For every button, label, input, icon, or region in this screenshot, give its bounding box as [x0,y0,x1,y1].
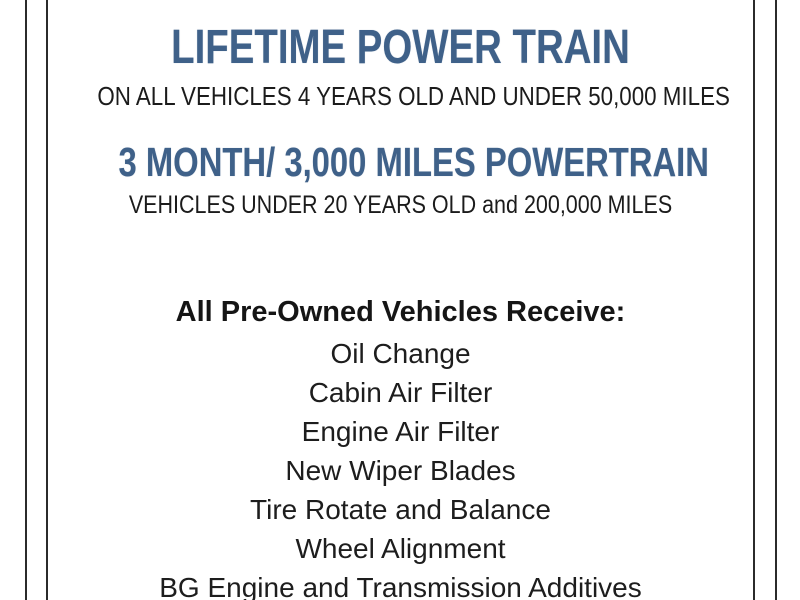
warranty-block-lifetime: LIFETIME POWER TRAIN ON ALL VEHICLES 4 Y… [48,24,753,109]
lifetime-warranty-subline: ON ALL VEHICLES 4 YEARS OLD AND UNDER 50… [97,83,703,109]
list-item: Cabin Air Filter [48,379,753,407]
flyer-page: LIFETIME POWER TRAIN ON ALL VEHICLES 4 Y… [0,0,800,600]
services-heading: All Pre-Owned Vehicles Receive: [48,298,753,327]
right-inner-rule [753,0,755,600]
services-list: Oil Change Cabin Air Filter Engine Air F… [48,340,753,600]
three-month-warranty-subline: VEHICLES UNDER 20 YEARS OLD and 200,000 … [97,193,703,218]
left-outer-rule [25,0,27,600]
warranty-block-three-month: 3 MONTH/ 3,000 MILES POWERTRAIN VEHICLES… [48,142,753,218]
list-item: BG Engine and Transmission Additives [48,574,753,600]
right-outer-rule [775,0,777,600]
flyer-content: LIFETIME POWER TRAIN ON ALL VEHICLES 4 Y… [48,0,753,600]
services-block: All Pre-Owned Vehicles Receive: Oil Chan… [48,298,753,600]
list-item: New Wiper Blades [48,457,753,485]
list-item: Oil Change [48,340,753,368]
list-item: Tire Rotate and Balance [48,496,753,524]
list-item: Engine Air Filter [48,418,753,446]
list-item: Wheel Alignment [48,535,753,563]
three-month-warranty-headline: 3 MONTH/ 3,000 MILES POWERTRAIN [119,142,683,183]
lifetime-warranty-headline: LIFETIME POWER TRAIN [119,24,683,72]
